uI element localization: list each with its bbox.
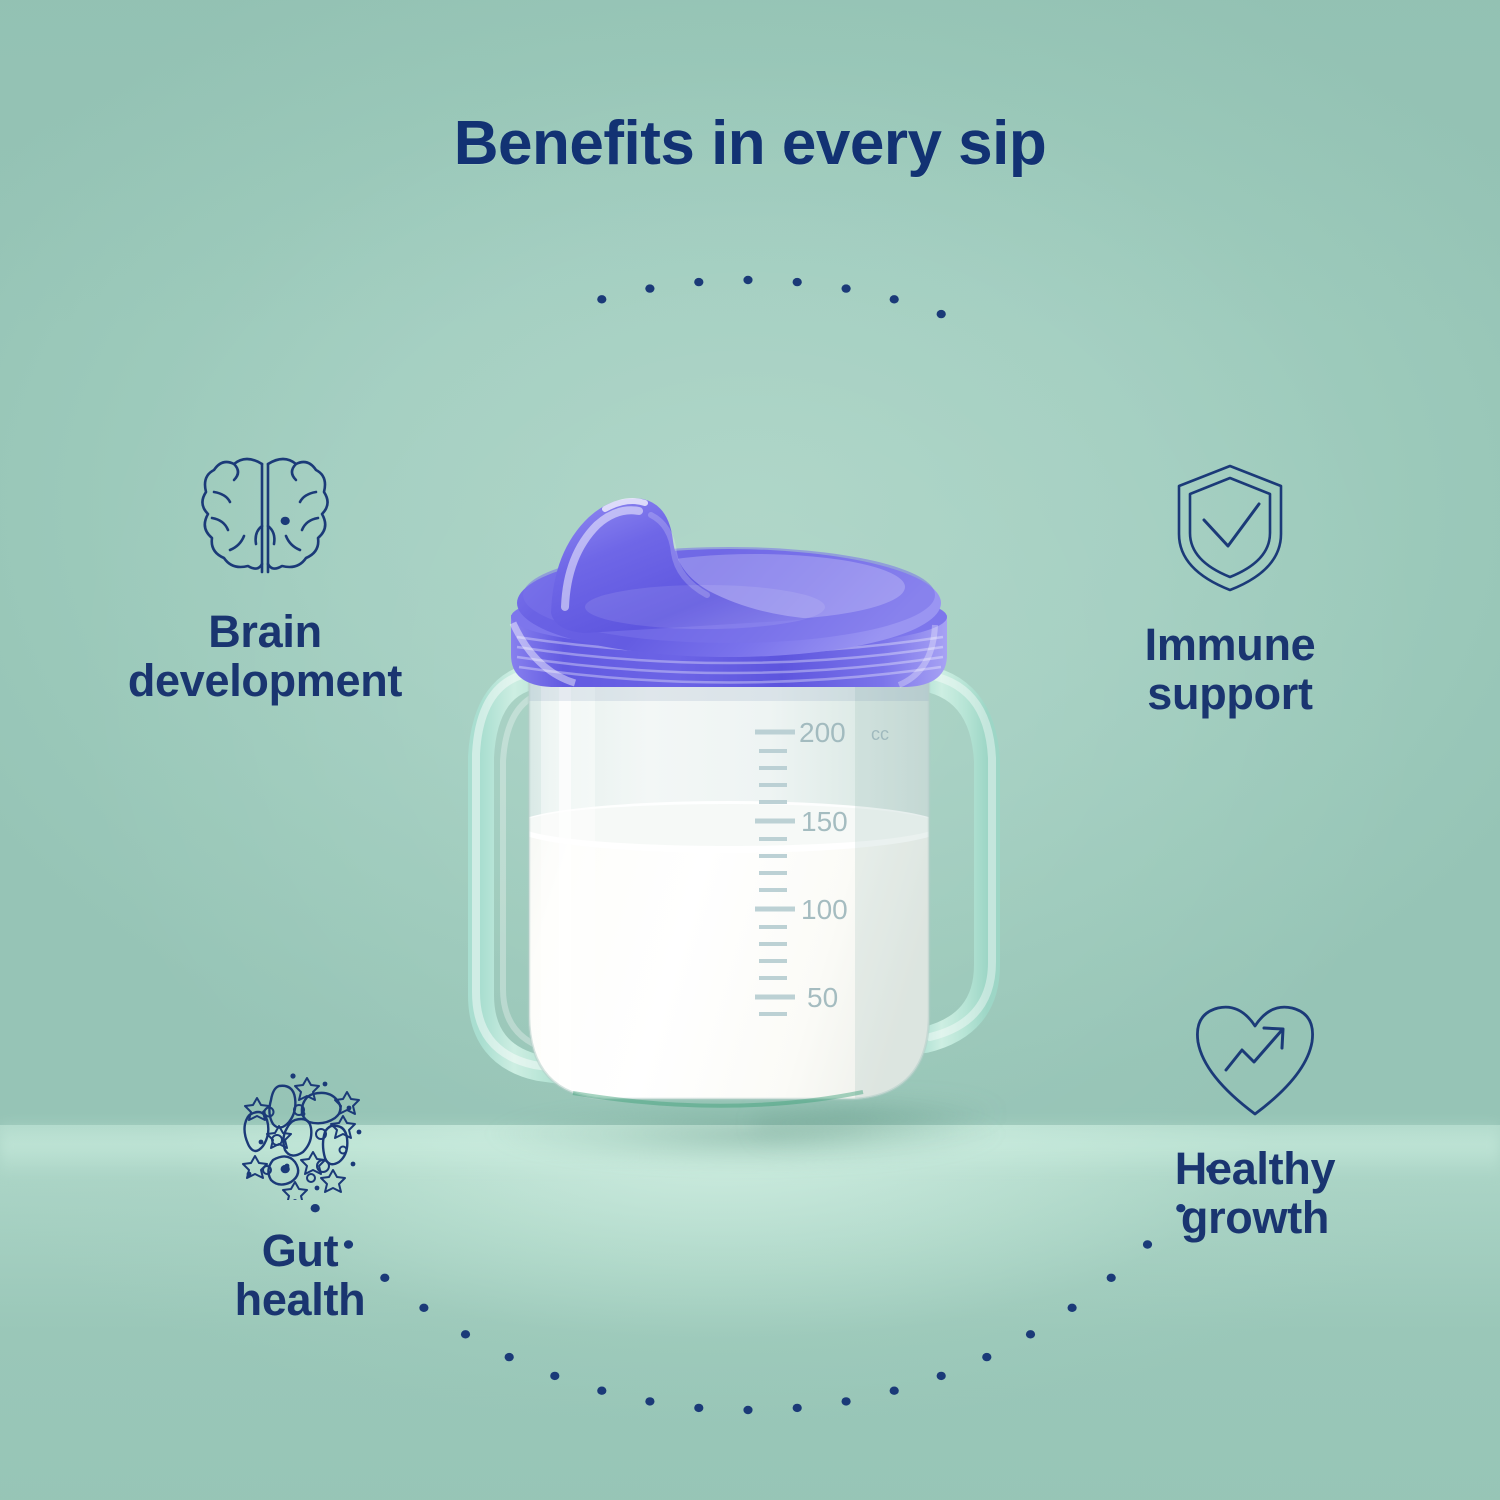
- shield-check-icon: [1030, 462, 1430, 599]
- benefit-brain-development: Brain development: [30, 452, 500, 705]
- mark-100: 100: [801, 894, 848, 925]
- mark-200: 200: [799, 717, 846, 748]
- benefit-gut-health: Gut health: [150, 1070, 450, 1324]
- benefit-immune-support-label: Immune support: [1145, 619, 1316, 719]
- mark-150: 150: [801, 806, 848, 837]
- product-image-sippy-cup: 200 cc 150 100 50: [455, 495, 1025, 1160]
- benefit-healthy-growth-label: Healthy growth: [1175, 1143, 1335, 1243]
- benefit-healthy-growth: Healthy growth: [1070, 1000, 1440, 1242]
- page-title: Benefits in every sip: [0, 108, 1500, 179]
- benefit-brain-development-label: Brain development: [128, 606, 402, 706]
- mark-50: 50: [807, 982, 838, 1013]
- mark-unit: cc: [871, 724, 889, 744]
- probiotic-bacteria-icon: [150, 1070, 450, 1205]
- heart-growth-arrow-icon: [1070, 1000, 1440, 1125]
- benefit-immune-support: Immune support: [1030, 462, 1430, 718]
- infographic-canvas: Benefits in every sip: [0, 0, 1500, 1500]
- brain-icon: [30, 452, 500, 582]
- benefit-gut-health-label: Gut health: [235, 1225, 366, 1325]
